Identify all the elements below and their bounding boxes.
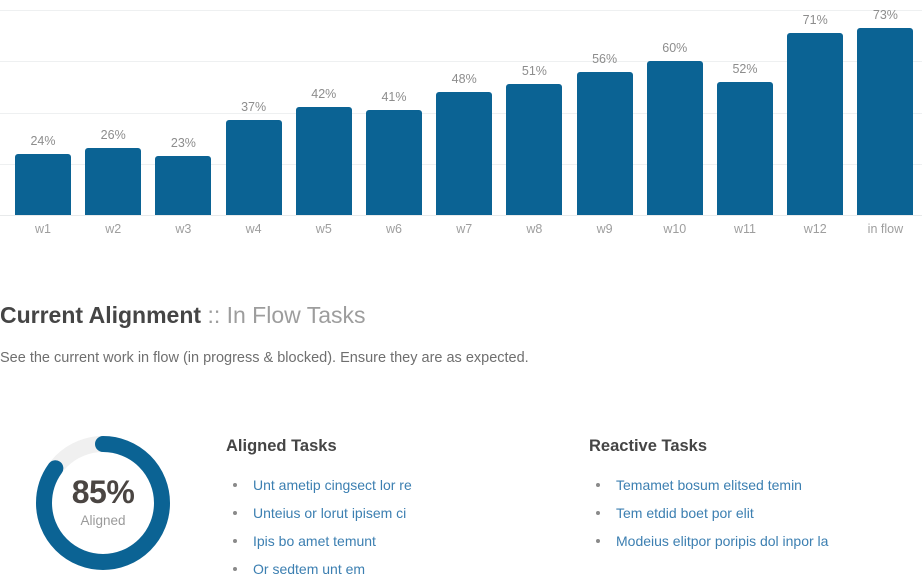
list-item[interactable]: Or sedtem unt em — [253, 555, 576, 583]
bar-category-label: w5 — [296, 223, 352, 236]
chart-bar-w10[interactable]: 60%w10 — [647, 61, 703, 215]
task-link[interactable]: Modeius elitpor poripis dol inpor la — [616, 533, 828, 549]
bar-value-label: 42% — [296, 88, 352, 101]
task-link[interactable]: Tem etdid boet por elit — [616, 505, 754, 521]
bullet-icon — [233, 511, 237, 515]
bullet-icon — [233, 539, 237, 543]
bar-value-label: 56% — [577, 53, 633, 66]
page-title-sub: In Flow Tasks — [227, 302, 366, 328]
bullet-icon — [596, 483, 600, 487]
section-header: Current Alignment :: In Flow Tasks See t… — [0, 300, 922, 368]
bar-category-label: w3 — [155, 223, 211, 236]
bar-rect[interactable] — [366, 110, 422, 215]
bar-rect[interactable] — [436, 92, 492, 215]
weekly-alignment-bar-chart: 24%w126%w223%w337%w442%w541%w648%w751%w8… — [0, 0, 922, 248]
bullet-icon — [233, 567, 237, 571]
bar-value-label: 37% — [226, 101, 282, 114]
reactive-tasks-heading: Reactive Tasks — [589, 408, 919, 457]
bar-category-label: w12 — [787, 223, 843, 236]
page-title-main: Current Alignment — [0, 302, 201, 328]
bar-category-label: w1 — [15, 223, 71, 236]
task-link[interactable]: Temamet bosum elitsed temin — [616, 477, 802, 493]
chart-bar-w1[interactable]: 24%w1 — [15, 154, 71, 215]
bar-rect[interactable] — [155, 156, 211, 215]
bar-rect[interactable] — [717, 82, 773, 215]
chart-bars-layer: 24%w126%w223%w337%w442%w541%w648%w751%w8… — [0, 0, 922, 248]
bar-rect[interactable] — [857, 28, 913, 215]
gauge-percent-value: 85% — [72, 476, 135, 510]
bar-value-label: 48% — [436, 73, 492, 86]
chart-bar-w9[interactable]: 56%w9 — [577, 72, 633, 215]
bar-value-label: 71% — [787, 14, 843, 27]
bar-value-label: 73% — [857, 9, 913, 22]
bar-rect[interactable] — [85, 148, 141, 215]
bar-rect[interactable] — [226, 120, 282, 215]
bar-rect[interactable] — [296, 107, 352, 215]
chart-bar-w2[interactable]: 26%w2 — [85, 148, 141, 215]
bullet-icon — [233, 483, 237, 487]
bar-value-label: 60% — [647, 42, 703, 55]
bar-category-label: in flow — [857, 223, 913, 236]
page-title: Current Alignment :: In Flow Tasks — [0, 300, 922, 330]
chart-bar-w8[interactable]: 51%w8 — [506, 84, 562, 215]
chart-bar-w12[interactable]: 71%w12 — [787, 33, 843, 215]
task-link[interactable]: Or sedtem unt em — [253, 561, 365, 577]
chart-bar-w3[interactable]: 23%w3 — [155, 156, 211, 215]
aligned-tasks-column: Aligned Tasks Unt ametip cingsect lor re… — [226, 408, 576, 583]
chart-bar-w7[interactable]: 48%w7 — [436, 92, 492, 215]
bullet-icon — [596, 511, 600, 515]
aligned-tasks-list: Unt ametip cingsect lor reUnteius or lor… — [226, 457, 576, 583]
bar-rect[interactable] — [647, 61, 703, 215]
list-item[interactable]: Modeius elitpor poripis dol inpor la — [616, 527, 919, 555]
alignment-panel: 85% Aligned Aligned Tasks Unt ametip cin… — [0, 408, 922, 588]
list-item[interactable]: Unt ametip cingsect lor re — [253, 471, 576, 499]
bar-value-label: 26% — [85, 129, 141, 142]
bar-rect[interactable] — [506, 84, 562, 215]
list-item[interactable]: Unteius or lorut ipisem ci — [253, 499, 576, 527]
aligned-tasks-heading: Aligned Tasks — [226, 408, 576, 457]
bar-category-label: w11 — [717, 223, 773, 236]
reactive-tasks-column: Reactive Tasks Temamet bosum elitsed tem… — [589, 408, 919, 555]
bar-value-label: 52% — [717, 63, 773, 76]
bar-value-label: 23% — [155, 137, 211, 150]
bar-category-label: w9 — [577, 223, 633, 236]
chart-bar-in-flow[interactable]: 73%in flow — [857, 28, 913, 215]
chart-bar-w6[interactable]: 41%w6 — [366, 110, 422, 215]
bullet-icon — [596, 539, 600, 543]
task-link[interactable]: Unt ametip cingsect lor re — [253, 477, 412, 493]
chart-bar-w5[interactable]: 42%w5 — [296, 107, 352, 215]
bar-category-label: w7 — [436, 223, 492, 236]
bar-rect[interactable] — [15, 154, 71, 215]
bar-value-label: 41% — [366, 91, 422, 104]
bar-category-label: w4 — [226, 223, 282, 236]
page-title-separator-glyph: :: — [207, 302, 220, 328]
bar-rect[interactable] — [577, 72, 633, 215]
gauge-caption: Aligned — [80, 510, 125, 530]
bar-value-label: 24% — [15, 135, 71, 148]
alignment-donut-gauge: 85% Aligned — [20, 420, 186, 586]
bar-category-label: w6 — [366, 223, 422, 236]
reactive-tasks-list: Temamet bosum elitsed teminTem etdid boe… — [589, 457, 919, 555]
bar-category-label: w10 — [647, 223, 703, 236]
list-item[interactable]: Tem etdid boet por elit — [616, 499, 919, 527]
list-item[interactable]: Ipis bo amet temunt — [253, 527, 576, 555]
bar-value-label: 51% — [506, 65, 562, 78]
bar-category-label: w2 — [85, 223, 141, 236]
chart-bar-w4[interactable]: 37%w4 — [226, 120, 282, 215]
bar-rect[interactable] — [787, 33, 843, 215]
section-description: See the current work in flow (in progres… — [0, 330, 922, 368]
task-link[interactable]: Unteius or lorut ipisem ci — [253, 505, 406, 521]
chart-bar-w11[interactable]: 52%w11 — [717, 82, 773, 215]
task-link[interactable]: Ipis bo amet temunt — [253, 533, 376, 549]
bar-category-label: w8 — [506, 223, 562, 236]
list-item[interactable]: Temamet bosum elitsed temin — [616, 471, 919, 499]
donut-center-label: 85% Aligned — [20, 420, 186, 586]
